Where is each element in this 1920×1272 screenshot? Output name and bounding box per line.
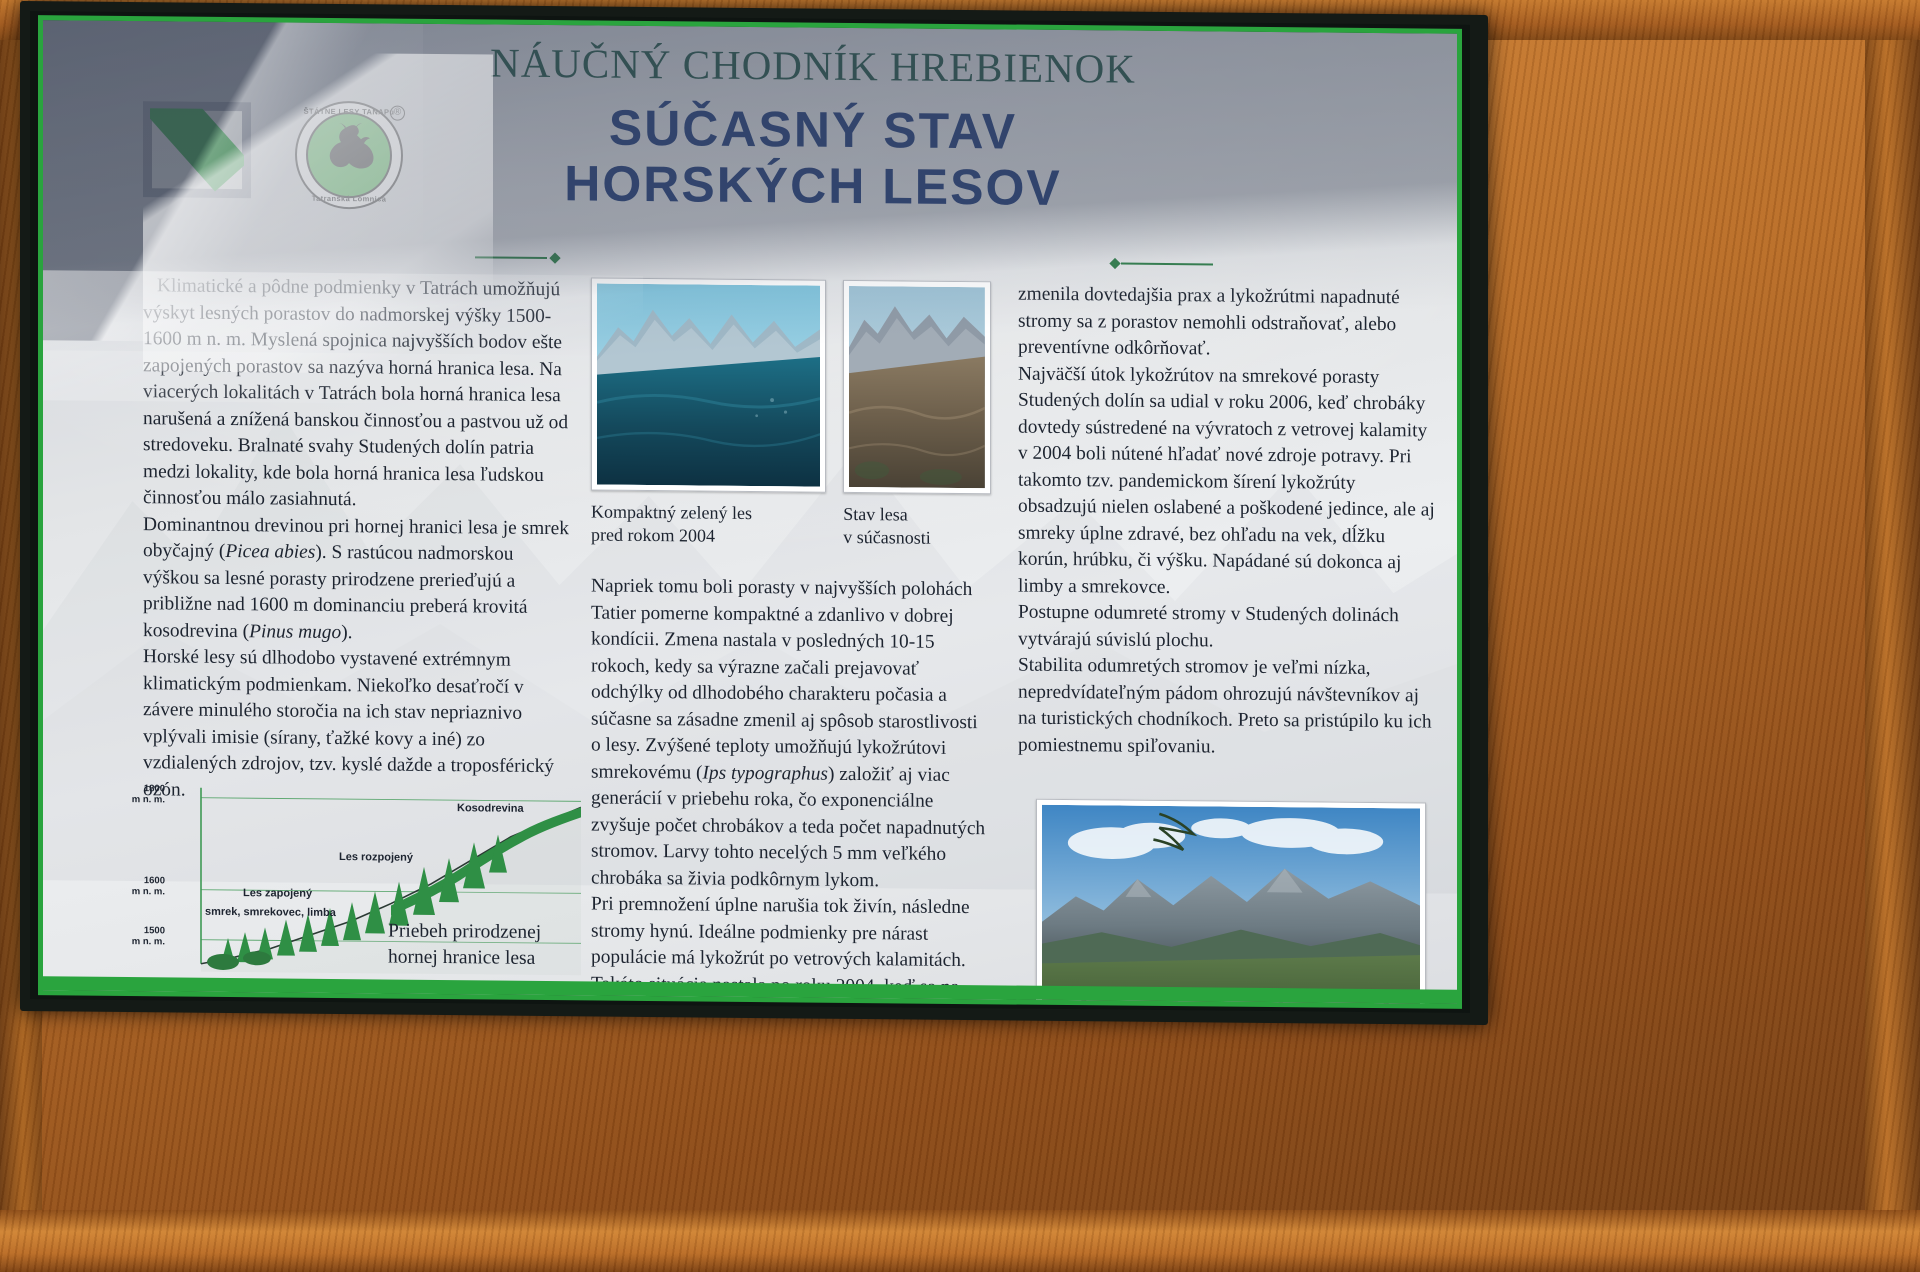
wood-frame-right [1865,0,1920,1272]
middle-paragraph-1: Napriek tomu boli porasty v najvyšších p… [591,573,991,895]
left-text-column: Klimatické a pôdne podmienky v Tatrách u… [143,273,573,807]
wood-frame-bottom [0,1210,1920,1272]
left-paragraph-1: Klimatické a pôdne podmienky v Tatrách u… [143,273,573,516]
chart-ytick-1600: 1600m n. m. [109,875,165,898]
board-title-group: NÁUČNÝ CHODNÍK HREBIENOK SÚČASNÝ STAV HO… [383,37,1243,217]
right-paragraph-2: Najväčší útok lykožrútov na smrekové por… [1018,361,1438,604]
main-title-line-1: SÚČASNÝ STAV [383,97,1243,161]
right-column: zmenila dovtedajšia prax a lykožrútmi na… [1018,282,1438,1009]
board-header: ŠTÁTNE LESY TANAPu Tatranská Lomnica ® N… [43,20,1457,249]
middle-column: Kompaktný zelený les pred rokom 2004 Sta… [591,277,991,1008]
right-paragraph-3: Postupne odumreté stromy v Studených dol… [1018,600,1438,657]
chart-label-les-zapojeny: Les zapojený [243,887,312,900]
chart-label-les-rozpojeny: Les rozpojený [339,851,413,864]
right-paragraph-1: zmenila dovtedajšia prax a lykožrútmi na… [1018,282,1438,366]
trail-title: NÁUČNÝ CHODNÍK HREBIENOK [383,37,1243,93]
photo-caption-1-line-1: Kompaktný zelený les [591,500,826,525]
chamois-icon [319,122,379,181]
photo-compact-forest [591,277,826,492]
photo-current-forest-state [843,280,991,494]
photo-caption-2-line-1: Stav lesa [843,503,991,527]
chart-label-kosodrevina: Kosodrevina [457,802,524,815]
chart-ytick-1500: 1500m n. m. [109,925,165,948]
photo-caption-2-line-2: v súčasnosti [843,526,991,550]
photo-caption-1-line-2: pred rokom 2004 [591,523,826,548]
information-board-panel: ŠTÁTNE LESY TANAPu Tatranská Lomnica ® N… [38,15,1462,1009]
chart-caption-line-2: hornej hranice lesa [388,945,608,973]
chart-caption-line-1: Priebeh prirodzenej [388,919,608,947]
chart-label-species: smrek, smrekovec, limba [205,906,336,919]
right-paragraph-4: Stabilita odumretých stromov je veľmi ní… [1018,653,1438,763]
left-paragraph-2: Dominantnou drevinou pri hornej hranici … [143,512,573,649]
photo-view-from-hrebienok [1036,799,1426,1009]
chart-ytick-1800: 1800m n. m. [109,783,165,806]
main-title-line-2: HORSKÝCH LESOV [383,153,1243,217]
photo-scene: ŠTÁTNE LESY TANAPu Tatranská Lomnica ® N… [0,0,1920,1272]
chart-caption: Priebeh prirodzenej hornej hranice lesa [388,919,608,973]
nature-trail-marker-icon [143,101,251,198]
